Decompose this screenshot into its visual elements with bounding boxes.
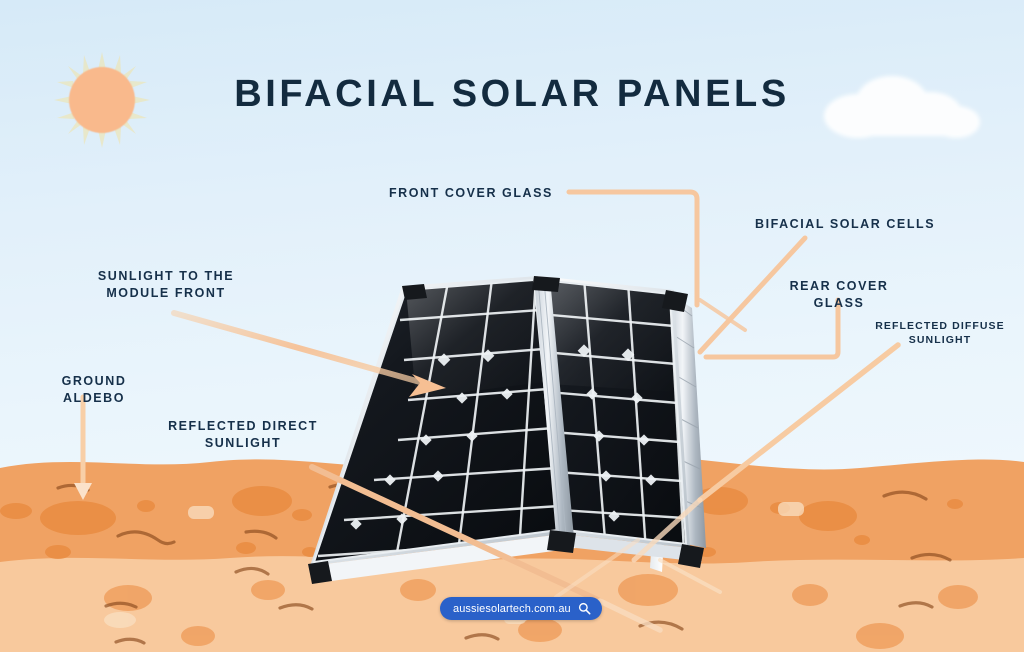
label-sunlight-to-module-front: SUNLIGHT TO THE MODULE FRONT xyxy=(87,268,245,302)
panel-module-left xyxy=(310,276,562,568)
label-reflected-direct-sunlight: REFLECTED DIRECT SUNLIGHT xyxy=(163,418,323,452)
label-bifacial-solar-cells: BIFACIAL SOLAR CELLS xyxy=(755,216,935,233)
site-watermark-badge[interactable]: aussiesolartech.com.au xyxy=(440,597,602,620)
label-front-cover-glass: FRONT COVER GLASS xyxy=(389,185,553,202)
page-title: BIFACIAL SOLAR PANELS xyxy=(0,73,1024,116)
label-rear-cover-glass: REAR COVER GLASS xyxy=(778,278,900,312)
infographic-canvas: BIFACIAL SOLAR PANELS xyxy=(0,0,1024,652)
search-icon xyxy=(578,602,591,615)
label-reflected-diffuse-sunlight: REFLECTED DIFFUSE SUNLIGHT xyxy=(872,319,1008,347)
site-watermark-text: aussiesolartech.com.au xyxy=(453,603,571,615)
bifacial-solar-panel xyxy=(288,272,718,602)
label-ground-albedo: GROUND ALDEBO xyxy=(49,373,139,407)
